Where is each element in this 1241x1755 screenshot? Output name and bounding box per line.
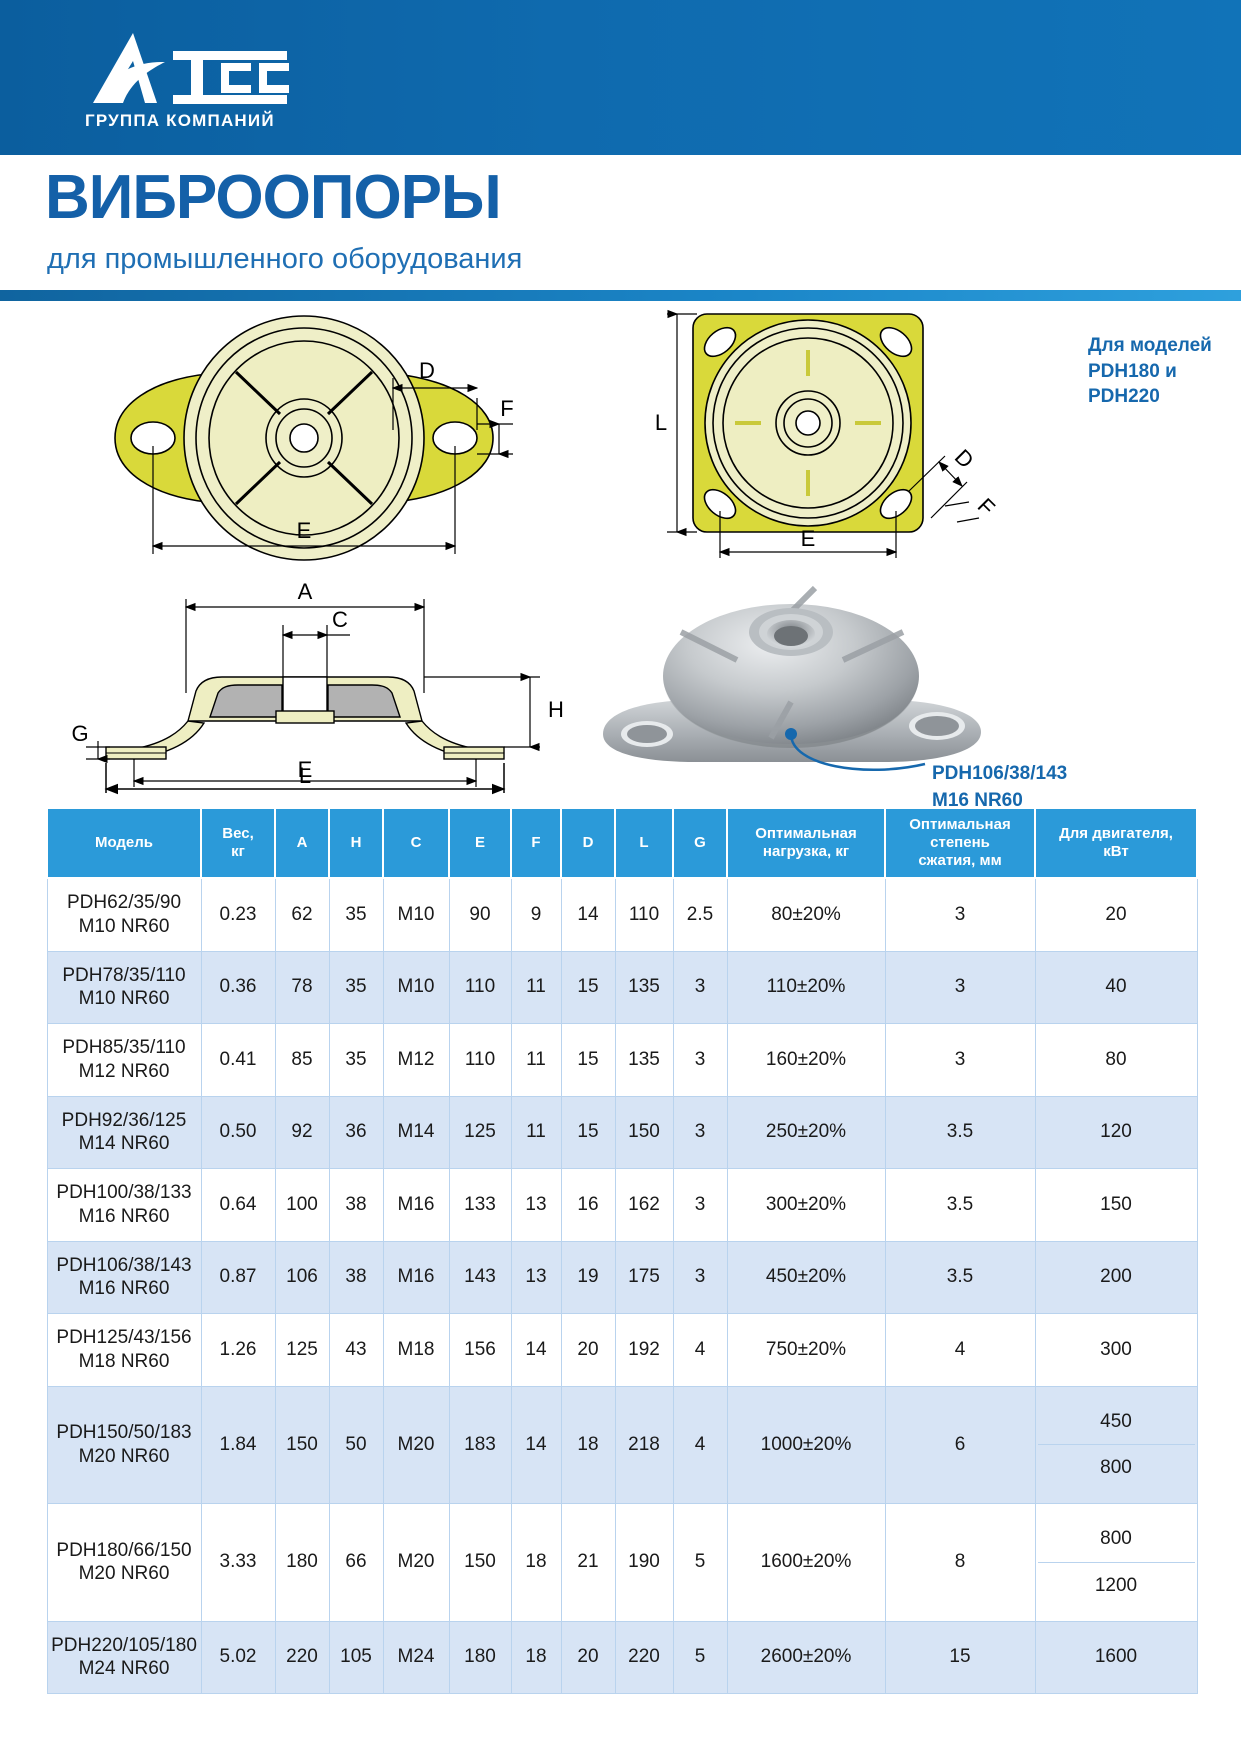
cell-motor: 300 [1035,1314,1197,1387]
dim-label-A: A [298,581,313,604]
cell-e: 125 [449,1096,511,1169]
cell-f: 13 [511,1169,561,1242]
cell-weight: 1.26 [201,1314,275,1387]
th-motor-l1: Для двигателя, [1059,825,1173,842]
th-c: C [383,808,449,878]
cell-model: PDH62/35/90M10 NR60 [47,878,201,951]
cell-f: 18 [511,1504,561,1622]
cell-motor: 120 [1035,1096,1197,1169]
cell-model-line1: PDH100/38/133 [56,1182,191,1203]
th-h: H [329,808,383,878]
section-L-dimension: L [70,763,570,803]
dim-label-E: E [297,518,312,543]
cell-model-line1: PDH92/36/125 [62,1110,187,1131]
table-row: PDH85/35/110M12 NR600.418535M12110111513… [47,1024,1197,1097]
cell-weight: 3.33 [201,1504,275,1622]
th-weight-l2: кг [231,843,245,860]
cell-model-line2: M16 NR60 [79,1278,170,1299]
th-load-l2: нагрузка, кг [763,843,849,860]
cell-c: M12 [383,1024,449,1097]
cell-weight: 0.36 [201,951,275,1024]
table-row: PDH78/35/110M10 NR600.367835M10110111513… [47,951,1197,1024]
cell-a: 150 [275,1386,329,1504]
cell-h: 66 [329,1504,383,1622]
dim-label-C: C [332,607,348,632]
table-row: PDH106/38/143M16 NR600.8710638M161431319… [47,1241,1197,1314]
cell-c: M16 [383,1241,449,1314]
cell-a: 100 [275,1169,329,1242]
table-row: PDH100/38/133M16 NR600.6410038M161331316… [47,1169,1197,1242]
cell-h: 35 [329,1024,383,1097]
cell-model: PDH106/38/143M16 NR60 [47,1241,201,1314]
cell-l: 135 [615,1024,673,1097]
cell-c: M10 [383,951,449,1024]
cell-motor: 1600 [1035,1621,1197,1694]
th-d: D [561,808,615,878]
cell-model-line2: M18 NR60 [79,1351,170,1372]
cell-model-line1: PDH106/38/143 [56,1255,191,1276]
cell-model-line1: PDH220/105/180 [51,1635,197,1656]
page-title: ВИБРООПОРЫ [45,167,501,229]
th-compression-l1: Оптимальная [909,816,1010,833]
cell-c: M20 [383,1504,449,1622]
cell-e: 133 [449,1169,511,1242]
dim-label-F: F [500,396,513,421]
cell-motor-value: 1200 [1038,1562,1195,1608]
th-e: E [449,808,511,878]
cell-motor: 80 [1035,1024,1197,1097]
cell-g: 3 [673,1096,727,1169]
cell-e: 183 [449,1386,511,1504]
models-note-line2: PDH180 и PDH220 [1088,361,1177,408]
cell-compression: 3.5 [885,1096,1035,1169]
cell-motor: 150 [1035,1169,1197,1242]
cell-model-line1: PDH125/43/156 [56,1327,191,1348]
cell-g: 3 [673,1241,727,1314]
product-photo [585,566,1005,776]
cell-model-line1: PDH180/66/150 [56,1540,191,1561]
cross-section-view: A C H [70,581,570,791]
table-row: PDH62/35/90M10 NR600.236235M10909141102.… [47,878,1197,951]
cell-h: 35 [329,951,383,1024]
cell-motor-value: 450 [1038,1399,1195,1445]
cell-g: 2.5 [673,878,727,951]
th-load-l1: Оптимальная [755,825,856,842]
drawings-area: D F E [0,301,1241,798]
cell-e: 110 [449,1024,511,1097]
cell-model: PDH220/105/180M24 NR60 [47,1621,201,1694]
cell-model-line1: PDH78/35/110 [62,965,185,986]
cell-a: 85 [275,1024,329,1097]
cell-d: 20 [561,1314,615,1387]
cell-model-line2: M20 NR60 [79,1446,170,1467]
dim-label-L: L [655,410,667,435]
cell-d: 14 [561,878,615,951]
th-a: A [275,808,329,878]
cell-model-line1: PDH150/50/183 [56,1422,191,1443]
cell-a: 78 [275,951,329,1024]
cell-motor: 200 [1035,1241,1197,1314]
cell-l: 192 [615,1314,673,1387]
dim-label-L2: L [299,763,311,788]
cell-e: 110 [449,951,511,1024]
cell-l: 190 [615,1504,673,1622]
cell-model-line2: M10 NR60 [79,916,170,937]
cell-model: PDH100/38/133M16 NR60 [47,1169,201,1242]
dim-label-E2: E [801,526,816,551]
cell-h: 50 [329,1386,383,1504]
cell-a: 92 [275,1096,329,1169]
dim-label-D: D [419,358,435,383]
cell-load: 80±20% [727,878,885,951]
cell-a: 62 [275,878,329,951]
cell-compression: 3.5 [885,1169,1035,1242]
cell-d: 21 [561,1504,615,1622]
table-row: PDH125/43/156M18 NR601.2612543M181561420… [47,1314,1197,1387]
company-logo: ГРУППА КОМПАНИЙ [45,25,335,140]
cell-e: 150 [449,1504,511,1622]
photo-callout-line1: PDH106/38/143 [932,763,1067,784]
cell-g: 4 [673,1314,727,1387]
th-compression: Оптимальная степень сжатия, мм [885,808,1035,878]
cell-weight: 1.84 [201,1386,275,1504]
cell-load: 750±20% [727,1314,885,1387]
cell-e: 143 [449,1241,511,1314]
cell-c: M24 [383,1621,449,1694]
cell-h: 36 [329,1096,383,1169]
cell-c: M16 [383,1169,449,1242]
cell-c: M14 [383,1096,449,1169]
cell-d: 15 [561,1024,615,1097]
cell-g: 3 [673,1169,727,1242]
dim-label-D2: D [950,444,979,473]
cell-compression: 6 [885,1386,1035,1504]
cell-compression: 3 [885,1024,1035,1097]
square-flange-top-view: L E D F [645,306,1065,566]
th-weight: Вес, кг [201,808,275,878]
th-l: L [615,808,673,878]
cell-d: 16 [561,1169,615,1242]
models-note-line1: Для моделей [1088,335,1212,356]
cell-f: 11 [511,951,561,1024]
cell-model-line2: M12 NR60 [79,1061,170,1082]
cell-load: 1000±20% [727,1386,885,1504]
cell-l: 218 [615,1386,673,1504]
cell-c: M20 [383,1386,449,1504]
cell-motor-value: 800 [1038,1516,1195,1562]
spec-table: Модель Вес, кг A H C E F D L G Оптимальн… [46,807,1198,1694]
table-body: PDH62/35/90M10 NR600.236235M10909141102.… [47,878,1197,1694]
th-g: G [673,808,727,878]
title-block: ВИБРООПОРЫ для промышленного оборудовани… [0,155,1241,290]
cell-h: 38 [329,1241,383,1314]
cell-f: 18 [511,1621,561,1694]
cell-load: 250±20% [727,1096,885,1169]
cell-model-line1: PDH62/35/90 [67,892,181,913]
cell-f: 11 [511,1096,561,1169]
dim-label-G: G [71,721,88,746]
models-note: Для моделей PDH180 и PDH220 [1088,333,1241,410]
cell-model: PDH92/36/125M14 NR60 [47,1096,201,1169]
cell-g: 3 [673,951,727,1024]
cell-model-line2: M20 NR60 [79,1563,170,1584]
cell-f: 9 [511,878,561,951]
th-model: Модель [47,808,201,878]
cell-motor-split: 450800 [1035,1386,1197,1504]
cell-g: 4 [673,1386,727,1504]
brand-banner: ГРУППА КОМПАНИЙ [0,0,1241,155]
cell-f: 11 [511,1024,561,1097]
cell-h: 105 [329,1621,383,1694]
dim-label-H: H [548,697,564,722]
th-motor: Для двигателя, кВт [1035,808,1197,878]
oval-flange-top-view: D F E [95,306,515,576]
cell-motor-split: 8001200 [1035,1504,1197,1622]
cell-h: 35 [329,878,383,951]
cell-load: 450±20% [727,1241,885,1314]
cell-f: 14 [511,1386,561,1504]
logo-subtitle: ГРУППА КОМПАНИЙ [85,111,275,131]
cell-compression: 8 [885,1504,1035,1622]
cell-l: 175 [615,1241,673,1314]
cell-compression: 3 [885,951,1035,1024]
cell-weight: 0.50 [201,1096,275,1169]
cell-d: 18 [561,1386,615,1504]
cell-compression: 3.5 [885,1241,1035,1314]
cell-motor-value: 800 [1038,1445,1195,1491]
cell-e: 156 [449,1314,511,1387]
th-motor-l2: кВт [1103,843,1129,860]
cell-c: M18 [383,1314,449,1387]
cell-model: PDH180/66/150M20 NR60 [47,1504,201,1622]
dim-label-F2: F [973,493,1000,520]
cell-g: 5 [673,1504,727,1622]
cell-f: 14 [511,1314,561,1387]
table-row: PDH150/50/183M20 NR601.8415050M201831418… [47,1386,1197,1504]
cell-d: 15 [561,1096,615,1169]
cell-motor: 40 [1035,951,1197,1024]
cell-model-line2: M24 NR60 [79,1658,170,1679]
th-weight-l1: Вес, [222,825,254,842]
cell-load: 160±20% [727,1024,885,1097]
cell-g: 3 [673,1024,727,1097]
cell-weight: 0.41 [201,1024,275,1097]
cell-load: 110±20% [727,951,885,1024]
th-f: F [511,808,561,878]
cell-model-line2: M16 NR60 [79,1206,170,1227]
cell-weight: 0.64 [201,1169,275,1242]
cell-l: 135 [615,951,673,1024]
cell-l: 150 [615,1096,673,1169]
table-row: PDH92/36/125M14 NR600.509236M14125111515… [47,1096,1197,1169]
th-load: Оптимальная нагрузка, кг [727,808,885,878]
table-header-row: Модель Вес, кг A H C E F D L G Оптимальн… [47,808,1197,878]
cell-model: PDH85/35/110M12 NR60 [47,1024,201,1097]
cell-compression: 3 [885,878,1035,951]
cell-model: PDH125/43/156M18 NR60 [47,1314,201,1387]
cell-model: PDH150/50/183M20 NR60 [47,1386,201,1504]
th-compression-l2: степень [930,834,990,851]
cell-f: 13 [511,1241,561,1314]
cell-motor: 20 [1035,878,1197,951]
cell-c: M10 [383,878,449,951]
cell-d: 19 [561,1241,615,1314]
cell-a: 180 [275,1504,329,1622]
table-row: PDH180/66/150M20 NR603.3318066M201501821… [47,1504,1197,1622]
cell-e: 90 [449,878,511,951]
cell-d: 20 [561,1621,615,1694]
spec-table-wrapper: Модель Вес, кг A H C E F D L G Оптимальн… [46,807,1196,1694]
cell-l: 220 [615,1621,673,1694]
cell-a: 220 [275,1621,329,1694]
cell-h: 38 [329,1169,383,1242]
tcc-logo-mark [45,25,325,115]
cell-d: 15 [561,951,615,1024]
cell-a: 125 [275,1314,329,1387]
divider-rule [0,290,1241,301]
cell-compression: 15 [885,1621,1035,1694]
cell-model: PDH78/35/110M10 NR60 [47,951,201,1024]
cell-h: 43 [329,1314,383,1387]
cell-load: 300±20% [727,1169,885,1242]
cell-l: 162 [615,1169,673,1242]
cell-weight: 5.02 [201,1621,275,1694]
table-row: PDH220/105/180M24 NR605.02220105M2418018… [47,1621,1197,1694]
cell-l: 110 [615,878,673,951]
cell-model-line2: M10 NR60 [79,988,170,1009]
cell-load: 1600±20% [727,1504,885,1622]
th-compression-l3: сжатия, мм [918,852,1001,869]
cell-weight: 0.87 [201,1241,275,1314]
cell-a: 106 [275,1241,329,1314]
cell-load: 2600±20% [727,1621,885,1694]
cell-g: 5 [673,1621,727,1694]
page-subtitle: для промышленного оборудования [47,243,522,276]
cell-compression: 4 [885,1314,1035,1387]
cell-model-line1: PDH85/35/110 [62,1037,185,1058]
cell-model-line2: M14 NR60 [79,1133,170,1154]
cell-weight: 0.23 [201,878,275,951]
cell-e: 180 [449,1621,511,1694]
